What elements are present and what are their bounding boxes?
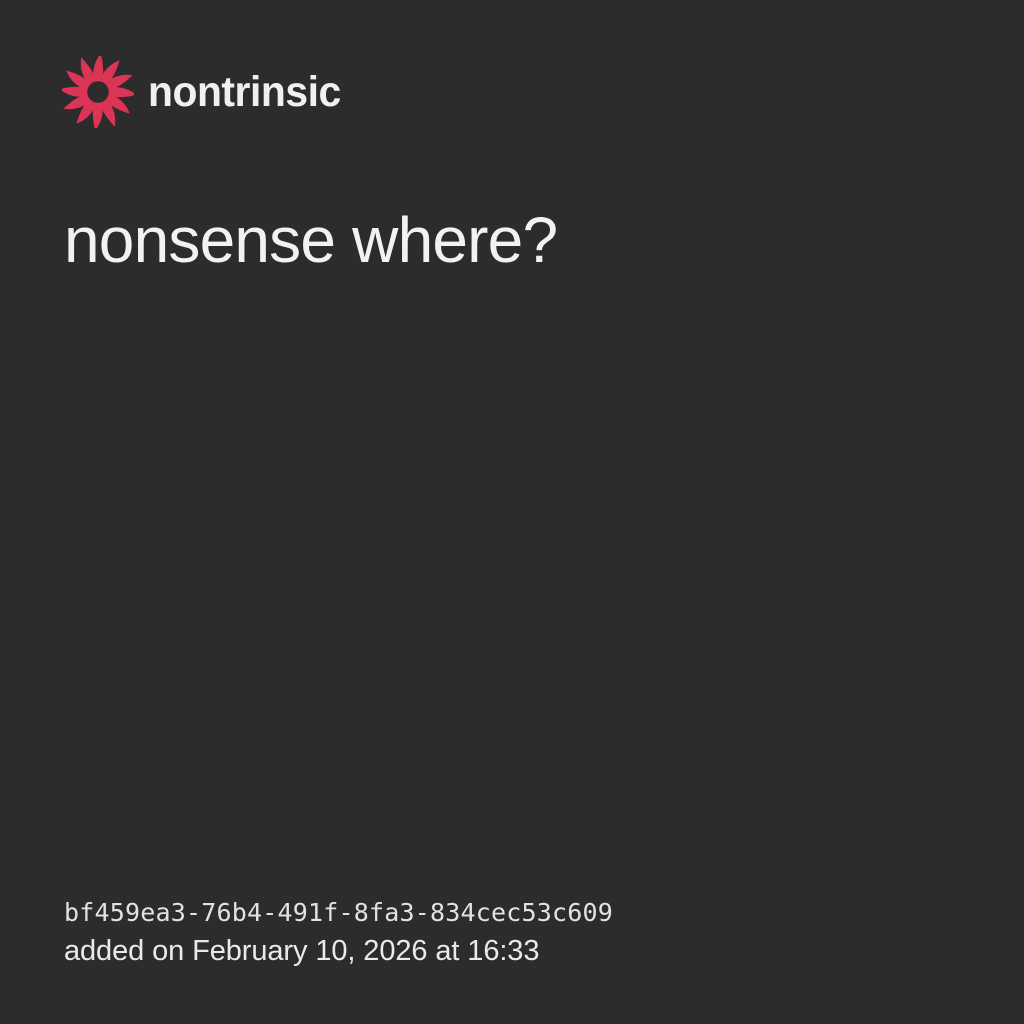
- record-id: bf459ea3-76b4-491f-8fa3-834cec53c609: [64, 899, 613, 927]
- spiral-swirl-icon: [62, 56, 134, 128]
- record-added-timestamp: added on February 10, 2026 at 16:33: [64, 936, 613, 968]
- brand-header[interactable]: nontrinsic: [62, 56, 351, 128]
- content-card: nontrinsic nonsense where? bf459ea3-76b4…: [0, 0, 1024, 1024]
- page-title: nonsense where?: [64, 204, 960, 277]
- brand-wordmark: nontrinsic: [148, 71, 341, 114]
- record-meta: bf459ea3-76b4-491f-8fa3-834cec53c609 add…: [64, 899, 613, 968]
